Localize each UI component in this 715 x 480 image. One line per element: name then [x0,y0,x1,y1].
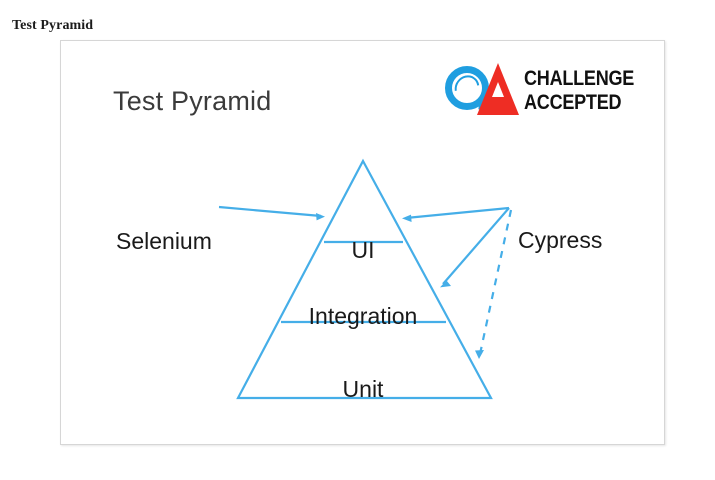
screenshot-root: Test Pyramid Test Pyramid CHALLENGE ACCE… [0,0,715,480]
cypress-connector-unit-dashed [480,210,511,354]
logo-line-1: CHALLENGE [524,68,634,89]
cypress-ui-arrowhead-icon [402,215,412,222]
logo-mark-icon [443,62,523,118]
cypress-connector-integration [443,208,509,284]
logo-line-2: ACCEPTED [524,92,621,113]
pyramid-outline [238,161,491,398]
selenium-arrowhead-icon [316,213,325,220]
slide-canvas: Test Pyramid CHALLENGE ACCEPTED [60,40,665,445]
qa-challenge-accepted-logo: CHALLENGE ACCEPTED [443,61,652,119]
selenium-connector-line [219,207,321,216]
pyramid-layer-label-ui: UI [352,237,375,264]
pyramid-layer-label-unit: Unit [343,376,384,403]
annotation-label-cypress: Cypress [518,227,602,254]
slide-title: Test Pyramid [113,86,271,117]
logo-a-crossbar-icon [484,98,512,106]
pyramid-layer-label-integration: Integration [309,303,418,330]
cypress-unit-arrowhead-icon [475,350,484,359]
logo-a-counter-icon [492,82,504,97]
annotation-label-selenium: Selenium [116,228,212,255]
cypress-connector-ui [406,208,509,218]
logo-wordmark: CHALLENGE ACCEPTED [524,68,652,113]
document-label: Test Pyramid [12,18,93,34]
cypress-integration-arrowhead-icon [440,280,451,287]
